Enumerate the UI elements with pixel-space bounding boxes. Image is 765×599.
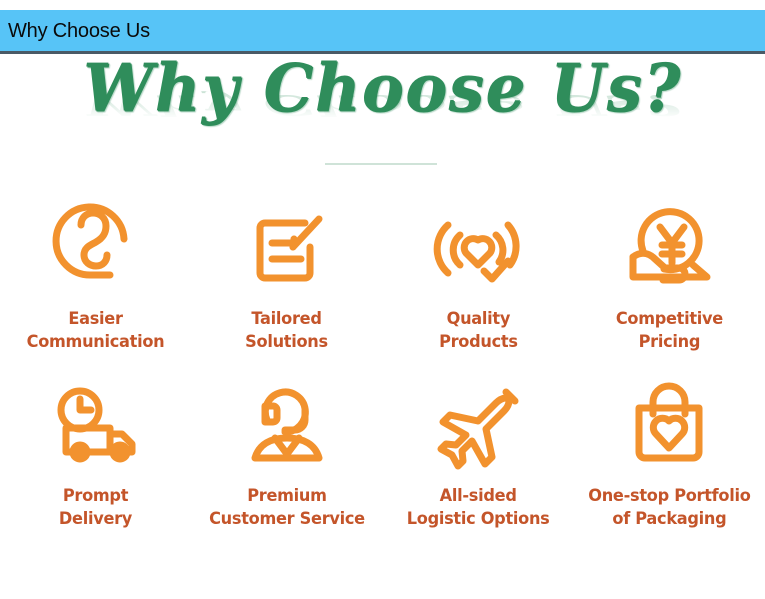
- feature-item-premium-customer-service[interactable]: Premium Customer Service: [191, 369, 382, 530]
- feature-item-tailored-solutions[interactable]: Tailored Solutions: [191, 192, 382, 353]
- document-pencil-icon: [239, 192, 335, 302]
- airplane-icon: [428, 369, 528, 479]
- feature-row: Easier Communication Tailored Solutions: [0, 192, 765, 353]
- shopping-bag-heart-icon: [619, 369, 719, 479]
- feature-item-competitive-pricing[interactable]: Competitive Pricing: [574, 192, 765, 353]
- feature-item-quality-products[interactable]: Quality Products: [383, 192, 574, 353]
- hand-holding-yen-coin-icon: [619, 192, 719, 302]
- feature-label: One-stop Portfolio of Packaging: [588, 485, 750, 530]
- window-titlebar: Why Choose Us: [0, 10, 765, 54]
- page-title: Why Choose Us?: [83, 55, 682, 121]
- hero-headline-reflection: Why Choose Us?: [0, 119, 765, 181]
- feature-label: Quality Products: [439, 308, 518, 353]
- hero-section: Why Choose Us? Why Choose Us?: [0, 57, 765, 169]
- heart-signal-check-icon: [430, 192, 526, 302]
- feature-label: Prompt Delivery: [59, 485, 132, 530]
- page-content: Why Choose Us? Why Choose Us? Easier Com…: [0, 57, 765, 599]
- ear-in-circle-icon: [48, 192, 144, 302]
- delivery-truck-clock-icon: [46, 369, 146, 479]
- headset-agent-icon: [237, 369, 337, 479]
- window-title: Why Choose Us: [0, 21, 150, 41]
- feature-grid: Easier Communication Tailored Solutions: [0, 192, 765, 530]
- hero-headline-wrap: Why Choose Us?: [0, 57, 765, 119]
- feature-label: Easier Communication: [27, 308, 165, 353]
- feature-label: Premium Customer Service: [209, 485, 365, 530]
- feature-item-logistic-options[interactable]: All-sided Logistic Options: [383, 369, 574, 530]
- feature-item-prompt-delivery[interactable]: Prompt Delivery: [0, 369, 191, 530]
- feature-label: Competitive Pricing: [616, 308, 723, 353]
- feature-label: All-sided Logistic Options: [407, 485, 550, 530]
- feature-row: Prompt Delivery Premium Customer Service: [0, 369, 765, 530]
- feature-label: Tailored Solutions: [246, 308, 329, 353]
- feature-item-easier-communication[interactable]: Easier Communication: [0, 192, 191, 353]
- feature-item-packaging-portfolio[interactable]: One-stop Portfolio of Packaging: [574, 369, 765, 530]
- hero-divider: [325, 163, 437, 165]
